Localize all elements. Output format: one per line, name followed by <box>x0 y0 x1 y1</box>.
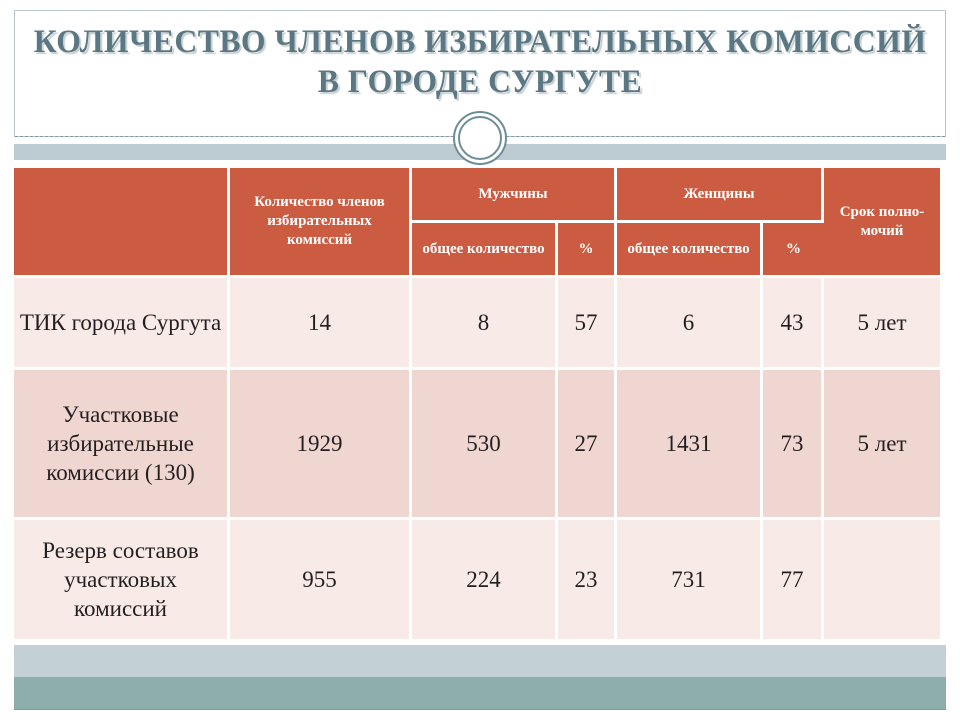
cell-women-total: 731 <box>617 520 763 642</box>
table-head: Количество членов избирательных комиссий… <box>14 168 940 278</box>
cell-total-members: 955 <box>230 520 412 642</box>
data-table-container: Количество членов избирательных комиссий… <box>14 168 940 642</box>
cell-women-percent: 73 <box>763 370 824 520</box>
cell-men-total: 530 <box>412 370 558 520</box>
cell-term <box>824 520 940 642</box>
table-header-row-1: Количество членов избирательных комиссий… <box>14 168 940 223</box>
header-group-women: Женщины <box>617 168 824 223</box>
bottom-accent-band-teal <box>14 677 946 710</box>
cell-men-percent: 27 <box>558 370 617 520</box>
table-row: Участковые избирательные комиссии (130) … <box>14 370 940 520</box>
header-group-men: Мужчины <box>412 168 617 223</box>
header-women-percent: % <box>763 223 824 278</box>
commission-members-table: Количество членов избирательных комиссий… <box>14 168 940 642</box>
row-label: Резерв составов участковых комиссий <box>14 520 230 642</box>
row-label: ТИК города Сургута <box>14 278 230 370</box>
header-corner-blank <box>14 168 230 278</box>
cell-term: 5 лет <box>824 370 940 520</box>
cell-term: 5 лет <box>824 278 940 370</box>
header-term-of-office: Срок полно-мочий <box>824 168 940 278</box>
page-title: КОЛИЧЕСТВО ЧЛЕНОВ ИЗБИРАТЕЛЬНЫХ КОМИССИЙ… <box>33 22 928 102</box>
slide-canvas: КОЛИЧЕСТВО ЧЛЕНОВ ИЗБИРАТЕЛЬНЫХ КОМИССИЙ… <box>0 0 960 720</box>
header-total-members: Количество членов избирательных комиссий <box>230 168 412 278</box>
header-men-total: общее количество <box>412 223 558 278</box>
table-body: ТИК города Сургута 14 8 57 6 43 5 лет Уч… <box>14 278 940 642</box>
circle-inner-ring <box>458 116 502 160</box>
bottom-accent-band-light <box>14 645 946 677</box>
table-row: ТИК города Сургута 14 8 57 6 43 5 лет <box>14 278 940 370</box>
cell-women-total: 1431 <box>617 370 763 520</box>
header-men-percent: % <box>558 223 617 278</box>
double-circle-icon <box>453 111 507 165</box>
cell-total-members: 1929 <box>230 370 412 520</box>
cell-men-total: 8 <box>412 278 558 370</box>
cell-women-total: 6 <box>617 278 763 370</box>
cell-total-members: 14 <box>230 278 412 370</box>
table-row: Резерв составов участковых комиссий 955 … <box>14 520 940 642</box>
cell-women-percent: 77 <box>763 520 824 642</box>
cell-women-percent: 43 <box>763 278 824 370</box>
row-label: Участковые избирательные комиссии (130) <box>14 370 230 520</box>
cell-men-total: 224 <box>412 520 558 642</box>
header-women-total: общее количество <box>617 223 763 278</box>
cell-men-percent: 23 <box>558 520 617 642</box>
cell-men-percent: 57 <box>558 278 617 370</box>
